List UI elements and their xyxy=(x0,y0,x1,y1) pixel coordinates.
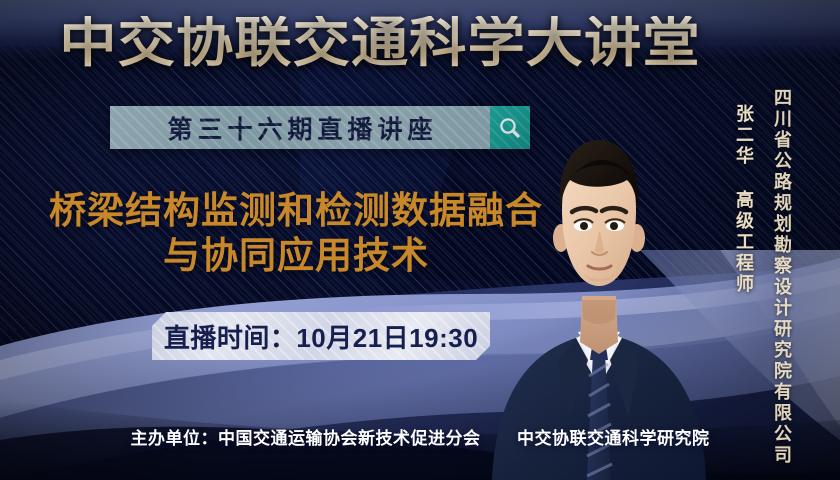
broadcast-time-badge: 直播时间：10月21日19:30 xyxy=(152,312,490,360)
lecture-title: 桥梁结构监测和检测数据融合 与协同应用技术 xyxy=(36,188,556,278)
lecture-title-line2: 与协同应用技术 xyxy=(36,233,556,278)
broadcast-time-text: 直播时间：10月21日19:30 xyxy=(164,318,478,355)
speaker-name-title: 张二华 高级工程师 xyxy=(733,104,754,295)
organizer-primary: 主办单位：中国交通运输协会新技术促进分会 xyxy=(131,429,481,448)
promo-poster: 中交协联交通科学大讲堂 第三十六期直播讲座 桥梁结构监测和检测数据融合 与协同应… xyxy=(0,0,840,480)
speaker-organization: 四川省公路规划勘察设计研究院有限公司 xyxy=(771,88,792,466)
organizer-footer: 主办单位：中国交通运输协会新技术促进分会 中交协联交通科学研究院 xyxy=(0,424,840,449)
page-title: 中交协联交通科学大讲堂 xyxy=(0,16,783,70)
organizer-secondary: 中交协联交通科学研究院 xyxy=(517,429,710,448)
episode-banner: 第三十六期直播讲座 xyxy=(110,106,530,149)
episode-label: 第三十六期直播讲座 xyxy=(110,106,490,149)
lecture-title-line1: 桥梁结构监测和检测数据融合 xyxy=(49,190,543,231)
search-button[interactable] xyxy=(490,106,530,149)
search-icon xyxy=(498,116,522,140)
